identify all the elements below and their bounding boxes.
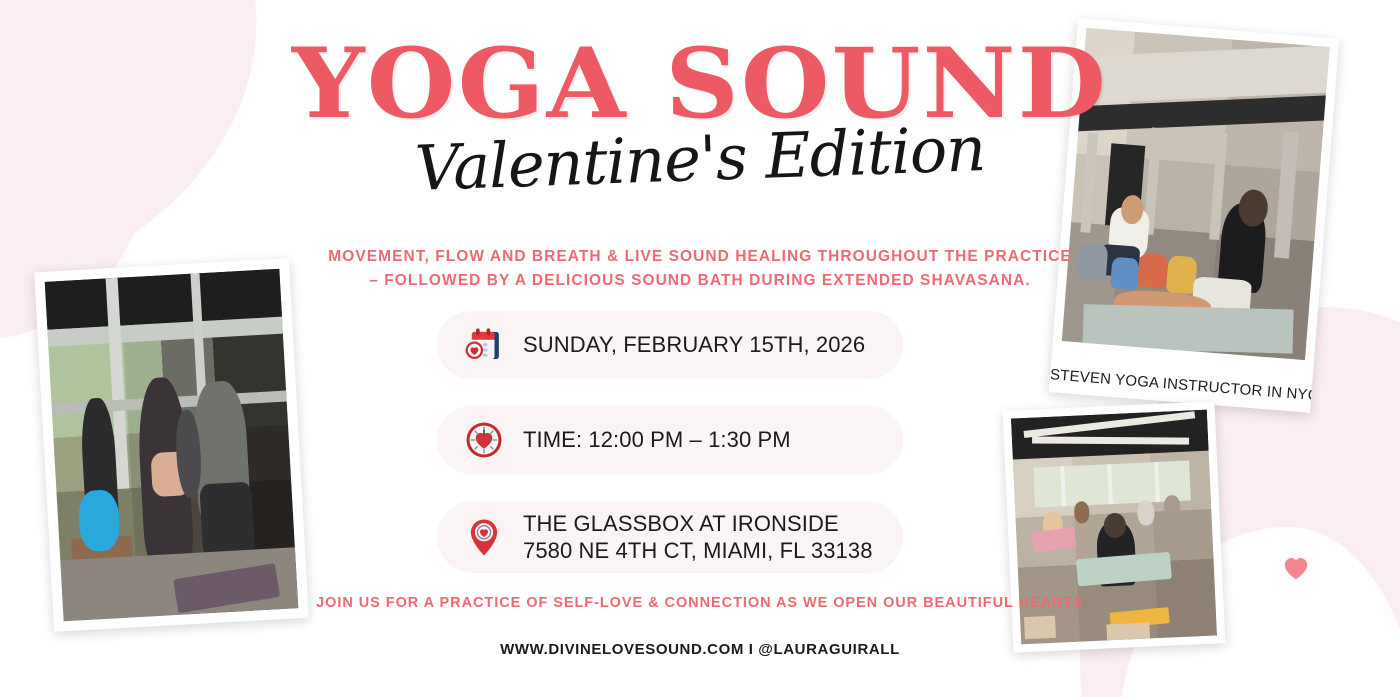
detail-time-line1: TIME: 12:00 PM – 1:30 PM bbox=[523, 427, 791, 452]
tagline-line-2: – FOLLOWED BY A DELICIOUS SOUND BATH DUR… bbox=[369, 272, 1031, 289]
detail-location-line1: THE GLASSBOX AT IRONSIDE bbox=[523, 510, 873, 538]
detail-location-line2: 7580 NE 4TH CT, MIAMI, FL 33138 bbox=[523, 537, 873, 565]
website-handle-text[interactable]: WWW.DIVINELOVESOUND.COM I @LAURAGUIRALL bbox=[0, 641, 1400, 658]
join-invitation-text: JOIN US FOR A PRACTICE OF SELF-LOVE & CO… bbox=[0, 595, 1400, 611]
clock-heart-icon bbox=[463, 419, 505, 461]
flyer-canvas: STEVEN YOGA INSTRUCTOR IN NYC YOG bbox=[0, 0, 1400, 697]
detail-time-text: TIME: 12:00 PM – 1:30 PM bbox=[523, 426, 791, 454]
heart-icon bbox=[1283, 556, 1309, 580]
detail-row-date: SUNDAY, FEBRUARY 15TH, 2026 bbox=[437, 311, 903, 379]
detail-date-line1: SUNDAY, FEBRUARY 15TH, 2026 bbox=[523, 332, 865, 357]
photo-instructor-caption: STEVEN YOGA INSTRUCTOR IN NYC bbox=[1049, 366, 1312, 404]
detail-location-text: THE GLASSBOX AT IRONSIDE 7580 NE 4TH CT,… bbox=[523, 510, 873, 565]
photo-soundbath-bottomright bbox=[1003, 401, 1226, 652]
detail-row-location: THE GLASSBOX AT IRONSIDE 7580 NE 4TH CT,… bbox=[437, 501, 903, 573]
tagline-line-1: MOVEMENT, FLOW AND BREATH & LIVE SOUND H… bbox=[328, 248, 1071, 265]
calendar-heart-icon bbox=[463, 324, 505, 366]
detail-date-text: SUNDAY, FEBRUARY 15TH, 2026 bbox=[523, 331, 865, 359]
event-details-list: SUNDAY, FEBRUARY 15TH, 2026 bbox=[437, 311, 903, 600]
map-pin-heart-icon bbox=[463, 516, 505, 558]
tagline: MOVEMENT, FLOW AND BREATH & LIVE SOUND H… bbox=[300, 245, 1100, 293]
photo-yoga-class-left bbox=[34, 258, 309, 632]
photo-yoga-class-left-image bbox=[45, 269, 299, 622]
detail-row-time: TIME: 12:00 PM – 1:30 PM bbox=[437, 406, 903, 474]
